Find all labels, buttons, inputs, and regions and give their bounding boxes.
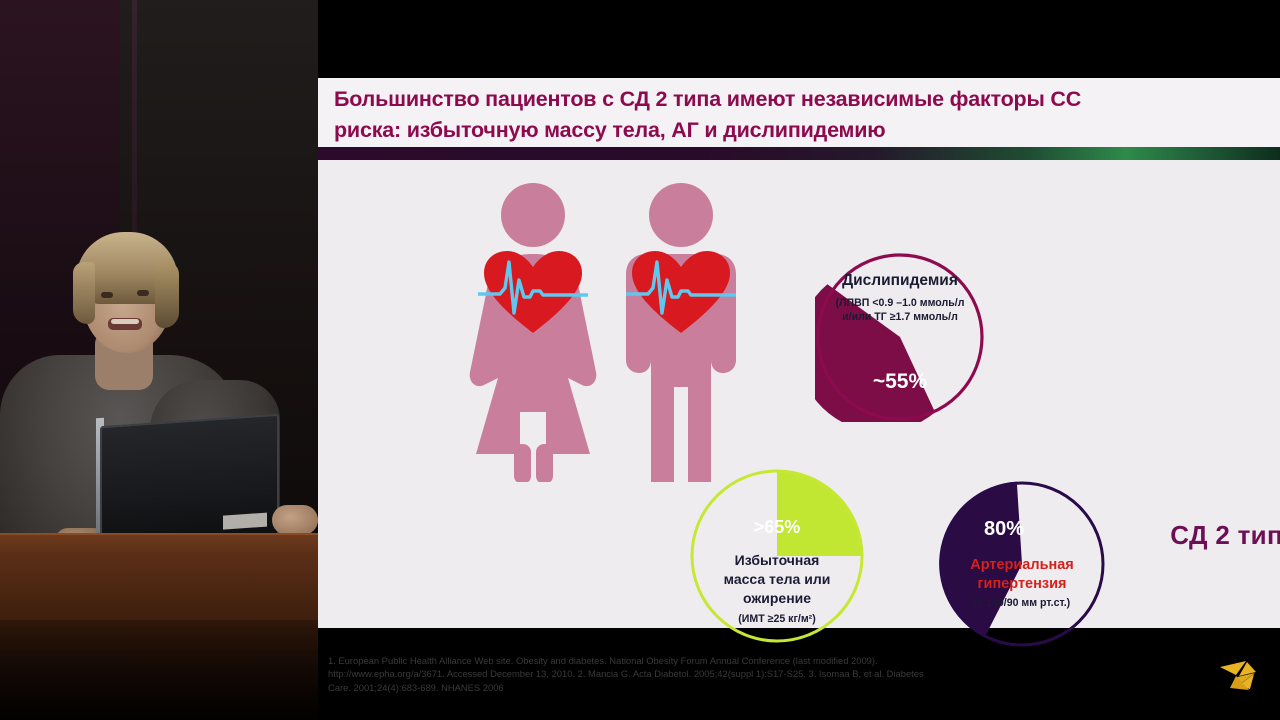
- astrazeneca-logo: [1216, 658, 1260, 694]
- laptop-label-sticker: [223, 513, 267, 530]
- hypertension-chart: 80% Артериальная гипертензия (≥ 140/90 м…: [938, 480, 1106, 648]
- references-block: 1. European Public Health Alliance Web s…: [328, 654, 1028, 694]
- dyslipidemia-chart: Дислипидемия (ЛПВП <0.9 –1.0 ммоль/л и/и…: [815, 252, 985, 422]
- slide-title-line-1: Большинство пациентов с СД 2 типа имеют …: [334, 84, 1254, 115]
- reference-line-1: 1. European Public Health Alliance Web s…: [328, 654, 1028, 667]
- overweight-title-line-3: ожирение: [688, 589, 866, 608]
- speaker-eye-right: [137, 290, 149, 296]
- heart-with-ecg-female: [478, 247, 588, 337]
- speaker-video-pane: [0, 0, 318, 720]
- overweight-title-line-2: масса тела или: [688, 570, 866, 589]
- male-pictogram: [606, 182, 756, 482]
- hypertension-title-line-2: гипертензия: [938, 575, 1106, 594]
- overweight-value: >65%: [688, 517, 866, 538]
- dyslipidemia-title: Дислипидемия: [815, 272, 985, 290]
- speaker-hand-right: [272, 505, 318, 535]
- overweight-title-line-1: Избыточная: [688, 551, 866, 570]
- speaker-eye-left: [101, 292, 113, 298]
- podium-shadow: [0, 620, 318, 720]
- speaker-hair-side-left: [73, 262, 95, 324]
- hypertension-value: 80%: [964, 518, 1044, 541]
- dyslipidemia-value: ~55%: [815, 370, 985, 394]
- screen: Большинство пациентов с СД 2 типа имеют …: [0, 0, 1280, 720]
- hypertension-title-line-1: Артериальная: [938, 556, 1106, 575]
- overweight-obesity-chart: >65% Избыточная масса тела или ожирение …: [688, 467, 866, 645]
- reference-line-2: http://www.epha.org/a/3671. Accessed Dec…: [328, 667, 1028, 680]
- center-label-diabetes: СД 2 типа: [1154, 520, 1280, 551]
- laptop-screen: [100, 414, 279, 549]
- title-accent-bar: [318, 147, 1280, 160]
- slide-title-line-2: риска: избыточную массу тела, АГ и дисли…: [334, 115, 1254, 146]
- speaker-hair-side-right: [155, 262, 179, 328]
- letterbox-top: [318, 0, 1280, 78]
- female-pictogram: [458, 182, 608, 482]
- reference-line-3: Care. 2001;24(4):683-689. NHANES 2006: [328, 681, 1028, 694]
- heart-with-ecg-male: [626, 247, 736, 337]
- slide-title: Большинство пациентов с СД 2 типа имеют …: [334, 84, 1254, 146]
- dyslipidemia-sub-line-1: (ЛПВП <0.9 –1.0 ммоль/л: [815, 296, 985, 310]
- slide-body: Дислипидемия (ЛПВП <0.9 –1.0 ммоль/л и/и…: [318, 160, 1280, 628]
- presentation-slide: Большинство пациентов с СД 2 типа имеют …: [318, 78, 1280, 628]
- speaker-mouth: [108, 318, 142, 330]
- overweight-sub: (ИМТ ≥25 кг/м²): [688, 613, 866, 625]
- hypertension-sub: (≥ 140/90 мм рт.ст.): [938, 597, 1106, 609]
- dyslipidemia-sub-line-2: и/или ТГ ≥1.7 ммоль/л: [815, 310, 985, 324]
